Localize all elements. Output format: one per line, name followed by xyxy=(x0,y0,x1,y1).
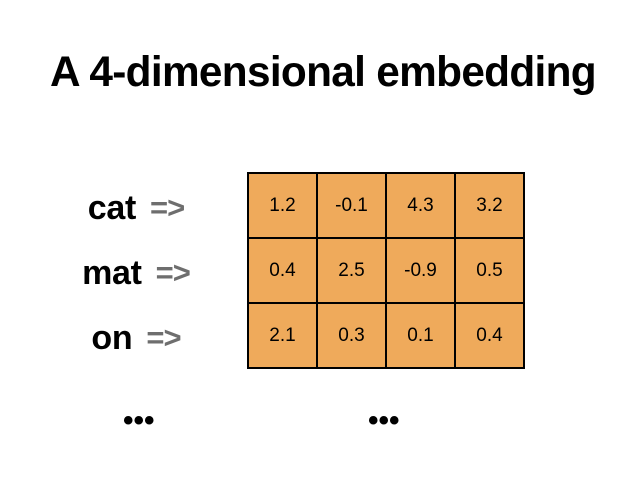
matrix-cell: 1.2 xyxy=(248,173,317,238)
matrix-cell: 0.3 xyxy=(317,303,386,368)
matrix-cell: -0.9 xyxy=(386,238,455,303)
label-row-on: on => xyxy=(20,305,252,370)
arrow-icon-cat: => xyxy=(150,192,184,223)
word-label-cat: cat xyxy=(88,191,136,225)
matrix-cell: 2.1 xyxy=(248,303,317,368)
matrix-cell: 0.5 xyxy=(455,238,524,303)
word-label-column: cat => mat => on => xyxy=(20,175,252,370)
matrix-cell: 0.4 xyxy=(248,238,317,303)
table-row: 2.1 0.3 0.1 0.4 xyxy=(248,303,524,368)
matrix-cell: 0.4 xyxy=(455,303,524,368)
matrix-cell: 2.5 xyxy=(317,238,386,303)
matrix-cell: -0.1 xyxy=(317,173,386,238)
word-label-on: on xyxy=(91,321,132,355)
embedding-matrix: 1.2 -0.1 4.3 3.2 0.4 2.5 -0.9 0.5 2.1 0.… xyxy=(247,172,525,369)
slide-canvas: A 4-dimensional embedding cat => mat => … xyxy=(0,0,638,484)
matrix-cell: 0.1 xyxy=(386,303,455,368)
matrix-cell: 3.2 xyxy=(455,173,524,238)
ellipsis-words: ••• xyxy=(123,406,155,436)
word-label-mat: mat xyxy=(82,256,142,290)
page-title: A 4-dimensional embedding xyxy=(50,47,602,97)
label-row-cat: cat => xyxy=(20,175,252,240)
arrow-icon-on: => xyxy=(146,322,180,353)
label-row-mat: mat => xyxy=(20,240,252,305)
arrow-icon-mat: => xyxy=(156,257,190,288)
table-row: 1.2 -0.1 4.3 3.2 xyxy=(248,173,524,238)
matrix-cell: 4.3 xyxy=(386,173,455,238)
table-row: 0.4 2.5 -0.9 0.5 xyxy=(248,238,524,303)
ellipsis-matrix: ••• xyxy=(368,406,400,436)
